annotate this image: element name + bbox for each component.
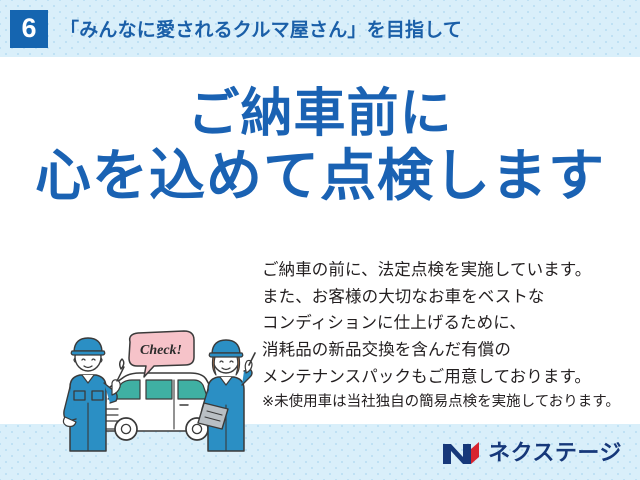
header: 6 「みんなに愛されるクルマ屋さん」を目指して xyxy=(0,0,640,57)
brand-name: ネクステージ xyxy=(488,442,622,464)
headline-line-2: 心を込めて点検します xyxy=(0,146,640,205)
header-title: 「みんなに愛されるクルマ屋さん」を目指して xyxy=(60,15,462,42)
section-number-badge: 6 xyxy=(10,10,48,48)
mechanics-illustration: Check! xyxy=(62,325,262,457)
body-line-2: また、お客様の大切なお車をベストな xyxy=(262,284,622,311)
mechanic-left xyxy=(63,338,124,451)
body-line-5: メンテナンスパックもご用意しております。 xyxy=(262,364,622,391)
body-line-1: ご納車の前に、法定点検を実施しています。 xyxy=(262,257,622,284)
body-line-4: 消耗品の新品交換を含んだ有償の xyxy=(262,337,622,364)
content-panel: ご納車前に 心を込めて点検します ご納車の前に、法定点検を実施しています。 また… xyxy=(0,57,640,424)
headline: ご納車前に 心を込めて点検します xyxy=(0,87,640,205)
brand-logo: ネクステージ xyxy=(441,440,622,466)
nextage-n-mark xyxy=(441,440,481,466)
advertisement-banner: 6 「みんなに愛されるクルマ屋さん」を目指して ご納車前に 心を込めて点検します… xyxy=(0,0,640,480)
body-line-3: コンディションに仕上げるために、 xyxy=(262,310,622,337)
body-copy: ご納車の前に、法定点検を実施しています。 また、お客様の大切なお車をベストな コ… xyxy=(262,257,622,414)
body-footnote: ※未使用車は当社独自の簡易点検を実施しております。 xyxy=(262,391,622,414)
speech-bubble-text: Check! xyxy=(140,343,182,358)
headline-line-1: ご納車前に xyxy=(0,87,640,142)
